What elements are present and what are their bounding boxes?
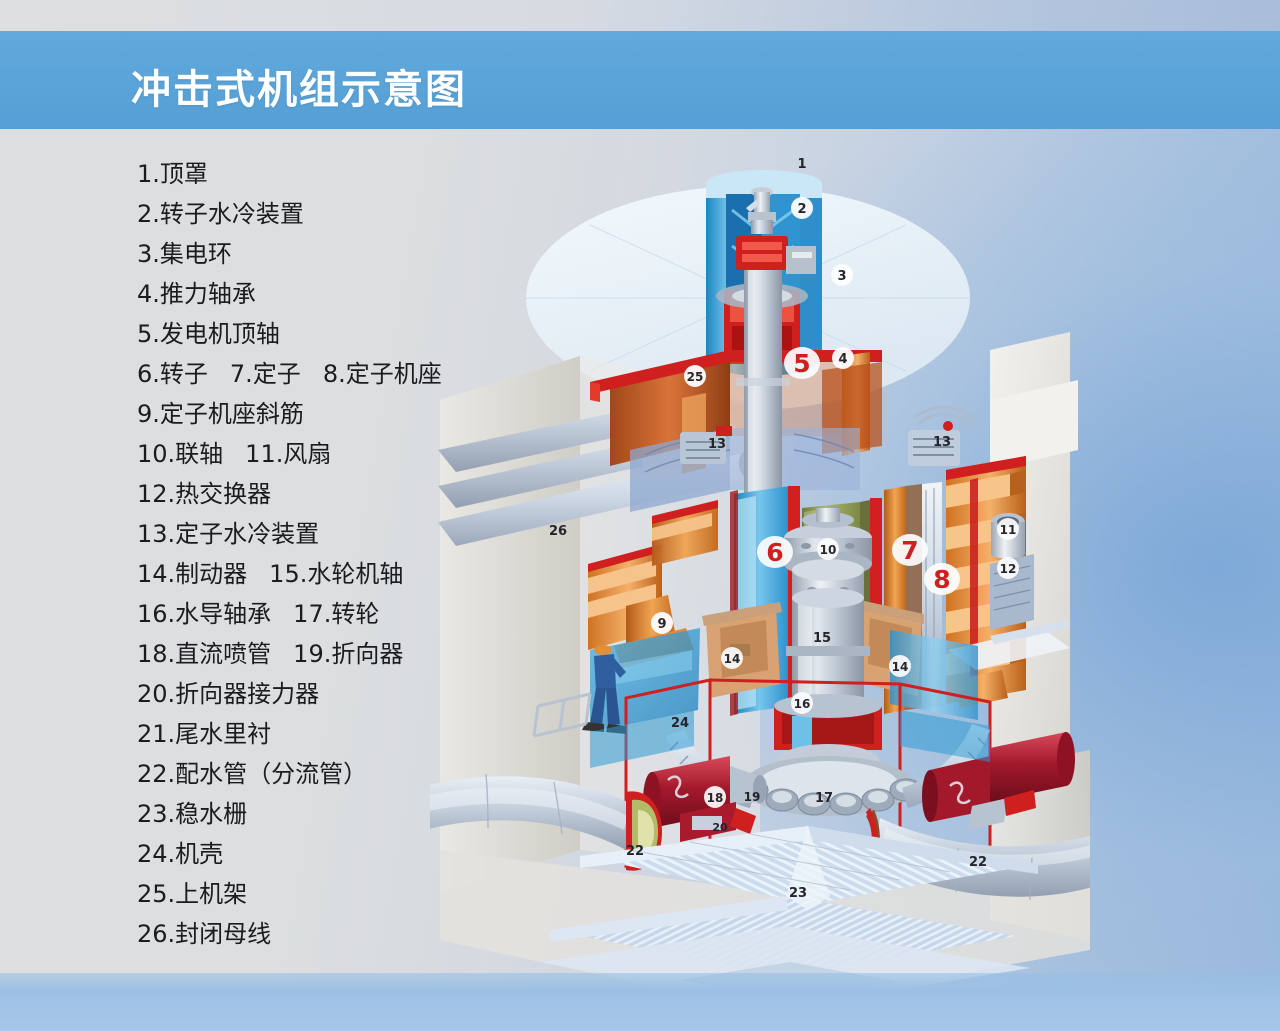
- brake-14-left: [702, 602, 782, 698]
- svg-text:7: 7: [901, 536, 918, 565]
- callout-13b: 13: [933, 435, 951, 450]
- legend-item-number: 17.: [293, 600, 331, 628]
- legend-item-label: 集电环: [160, 240, 232, 268]
- slide-canvas: 冲击式机组示意图 1.顶罩2.转子水冷装置3.集电环4.推力轴承5.发电机顶轴6…: [0, 0, 1280, 1031]
- callout-3: 3: [831, 264, 853, 286]
- legend-item-number: 2.: [137, 200, 160, 228]
- legend-item-label: 风扇: [283, 440, 331, 468]
- legend-item-number: 8.: [323, 360, 346, 388]
- callout-13a: 13: [708, 437, 726, 452]
- svg-text:14: 14: [724, 652, 741, 666]
- legend-item-label: 稳水栅: [175, 800, 247, 828]
- callout-4: 4: [832, 347, 854, 369]
- legend-item-label: 定子机座斜筋: [160, 400, 304, 428]
- callout-25: 25: [684, 365, 706, 387]
- legend-item-number: 10.: [137, 440, 175, 468]
- legend-item-label: 联轴: [175, 440, 223, 468]
- svg-text:18: 18: [707, 791, 724, 805]
- callout-12: 12: [997, 557, 1019, 579]
- callout-2: 2: [791, 197, 813, 219]
- callout-10: 10: [817, 538, 839, 560]
- callout-23: 23: [789, 886, 807, 901]
- legend-item-number: 24.: [137, 840, 175, 868]
- callout-8: 8: [924, 563, 960, 595]
- callout-16: 16: [791, 692, 813, 714]
- legend-item-label: 折向器: [331, 640, 403, 668]
- legend-item-label: 转轮: [331, 600, 379, 628]
- machine-diagram: 5 6 7 8 2 3: [430, 150, 1090, 1030]
- top-strip: [0, 0, 1280, 31]
- legend-item-number: 23.: [137, 800, 175, 828]
- legend-item-number: 12.: [137, 480, 175, 508]
- legend-item-number: 14.: [137, 560, 175, 588]
- callout-7: 7: [892, 534, 928, 566]
- legend-item-number: 15.: [269, 560, 307, 588]
- svg-text:10: 10: [820, 543, 837, 557]
- legend-item-number: 9.: [137, 400, 160, 428]
- callout-1: 1: [797, 157, 806, 172]
- callout-18-left: 18: [704, 786, 726, 808]
- legend-item-number: 26.: [137, 920, 175, 948]
- legend-item-label: 定子水冷装置: [175, 520, 319, 548]
- legend-item-number: 18.: [137, 640, 175, 668]
- callout-22b: 22: [969, 855, 987, 870]
- callout-24: 24: [671, 716, 689, 731]
- legend-item-label: 尾水里衬: [175, 720, 271, 748]
- svg-text:2: 2: [797, 202, 806, 217]
- callout-15: 15: [813, 631, 831, 646]
- svg-text:16: 16: [794, 697, 811, 711]
- svg-text:12: 12: [1000, 562, 1017, 576]
- legend-item-label: 直流喷管: [175, 640, 271, 668]
- svg-text:14: 14: [892, 660, 909, 674]
- legend-item-number: 6.: [137, 360, 160, 388]
- legend-item-label: 定子: [253, 360, 301, 388]
- callout-14-right: 14: [889, 655, 911, 677]
- callout-14-left: 14: [721, 647, 743, 669]
- callout-17: 17: [815, 791, 833, 806]
- svg-text:4: 4: [838, 352, 847, 367]
- callout-6: 6: [757, 536, 793, 568]
- callout-9: 9: [651, 612, 673, 634]
- svg-text:9: 9: [657, 617, 666, 632]
- legend-item-label: 折向器接力器: [175, 680, 319, 708]
- water-guide-bearing-16: [774, 694, 882, 750]
- legend-item-number: 22.: [137, 760, 175, 788]
- callout-19: 19: [744, 790, 761, 804]
- legend-item-label: 封闭母线: [175, 920, 271, 948]
- legend-item-label: 发电机顶轴: [160, 320, 280, 348]
- svg-text:3: 3: [837, 269, 846, 284]
- legend-item-label: 配水管（分流管）: [175, 760, 367, 788]
- legend-item-number: 11.: [245, 440, 283, 468]
- svg-text:6: 6: [766, 538, 783, 567]
- svg-text:8: 8: [933, 565, 950, 594]
- legend-item-label: 转子: [160, 360, 208, 388]
- legend-item-label: 水轮机轴: [307, 560, 403, 588]
- legend-item-number: 4.: [137, 280, 160, 308]
- callout-20: 20: [712, 821, 728, 834]
- callout-5: 5: [784, 347, 820, 379]
- page-title: 冲击式机组示意图: [131, 57, 467, 115]
- legend-item-label: 热交换器: [175, 480, 271, 508]
- svg-text:25: 25: [687, 370, 704, 384]
- callout-26: 26: [549, 524, 567, 539]
- legend-item-number: 20.: [137, 680, 175, 708]
- legend-item-number: 1.: [137, 160, 160, 188]
- legend-item-number: 3.: [137, 240, 160, 268]
- legend-item-label: 机壳: [175, 840, 223, 868]
- legend-item-label: 水导轴承: [175, 600, 271, 628]
- callout-11: 11: [997, 518, 1019, 540]
- callout-22a: 22: [626, 844, 644, 859]
- legend-item-label: 定子机座: [346, 360, 442, 388]
- legend-item-label: 推力轴承: [160, 280, 256, 308]
- legend-item-number: 25.: [137, 880, 175, 908]
- legend-item-label: 制动器: [175, 560, 247, 588]
- legend-item-number: 13.: [137, 520, 175, 548]
- legend-item-number: 5.: [137, 320, 160, 348]
- svg-text:11: 11: [1000, 523, 1017, 537]
- legend-item-number: 16.: [137, 600, 175, 628]
- legend-item-number: 21.: [137, 720, 175, 748]
- legend-item-label: 上机架: [175, 880, 247, 908]
- legend-item-label: 顶罩: [160, 160, 208, 188]
- legend-item-label: 转子水冷装置: [160, 200, 304, 228]
- bottom-band: [0, 973, 1280, 1031]
- legend-item-number: 19.: [293, 640, 331, 668]
- legend-item-number: 7.: [230, 360, 253, 388]
- svg-text:5: 5: [793, 349, 810, 378]
